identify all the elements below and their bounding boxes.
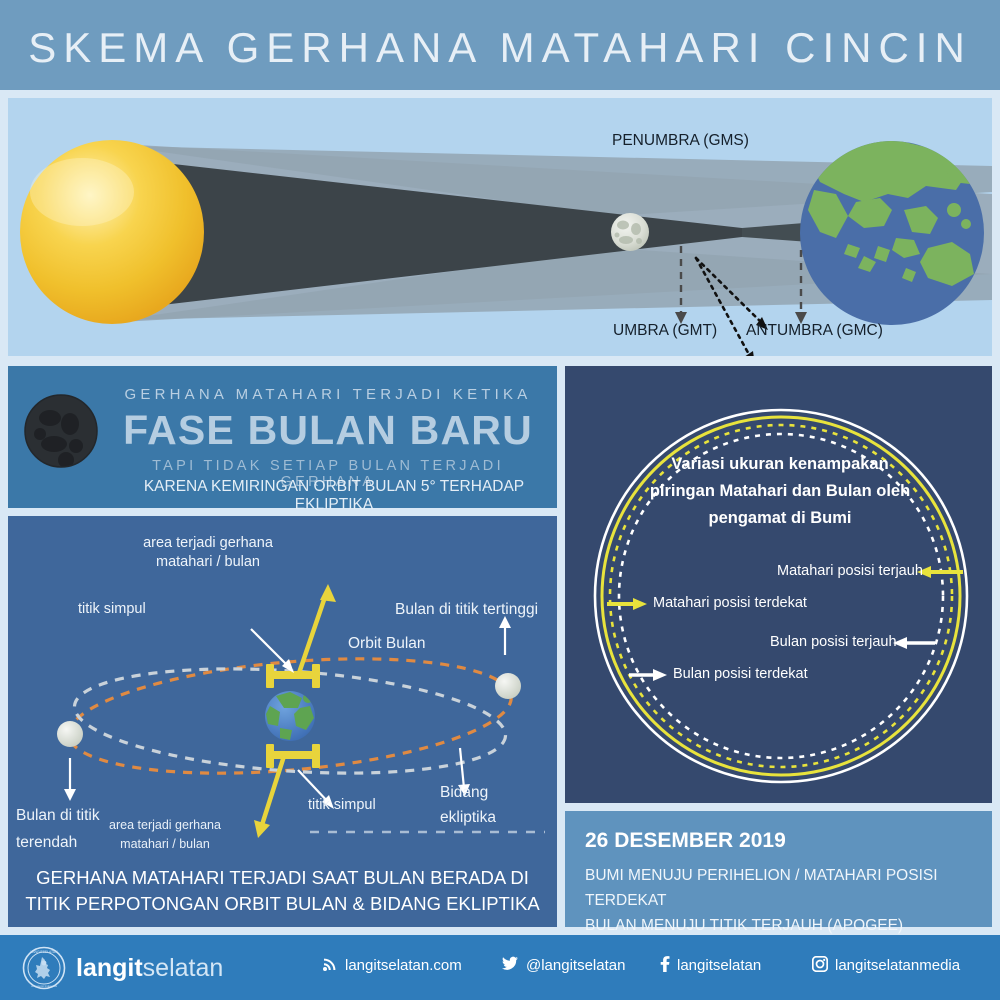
social-website-text: langitselatan.com: [345, 957, 462, 974]
page-header: SKEMA GERHANA MATAHARI CINCIN: [0, 0, 1000, 90]
brand-light: selatan: [143, 954, 224, 982]
social-website[interactable]: langitselatan.com: [322, 956, 462, 976]
twitter-icon: [502, 956, 519, 976]
social-twitter-text: @langitselatan: [526, 957, 625, 974]
social-facebook-text: langitselatan: [677, 957, 761, 974]
page-title: SKEMA GERHANA MATAHARI CINCIN: [0, 24, 1000, 72]
antumbra-label: ANTUMBRA (GMC): [746, 322, 883, 340]
eclipse-geometry-diagram: PENUMBRA (GMS) UMBRA (GMT) ANTUMBRA (GMC…: [8, 98, 992, 356]
moon-lowest-label: Bulan di titik terendah: [16, 802, 100, 856]
orbit-diagram-panel: area terjadi gerhana matahari / bulan ti…: [8, 516, 557, 927]
fase-line-1: GERHANA MATAHARI TERJADI KETIKA: [108, 386, 548, 403]
variasi-title: Variasi ukuran kenampakan piringan Matah…: [605, 451, 955, 532]
social-twitter[interactable]: @langitselatan: [502, 956, 625, 976]
sun-near-label: Matahari posisi terdekat: [653, 595, 807, 611]
rss-icon: [322, 956, 338, 976]
node-bottom-label: titik simpul: [308, 796, 376, 815]
variasi-ukuran-panel: Variasi ukuran kenampakan piringan Matah…: [565, 366, 992, 803]
moon-lowest-icon: [57, 721, 83, 747]
fase-line-4: KARENA KEMIRINGAN ORBIT BULAN 5° TERHADA…: [108, 478, 560, 514]
infographic-page: SKEMA GERHANA MATAHARI CINCIN: [0, 0, 1000, 1000]
date-detail-line2: BULAN MENUJU TITIK TERJAUH (APOGEE): [585, 917, 903, 934]
orbit-caption: GERHANA MATAHARI TERJADI SAAT BULAN BERA…: [8, 865, 557, 917]
eclipse-area-bottom-line1: area terjadi gerhana: [109, 818, 221, 832]
moon-highest-icon: [495, 673, 521, 699]
facebook-icon: [660, 956, 670, 976]
penumbra-arrowhead-2: [744, 351, 755, 356]
date-details: BUMI MENUJU PERIHELION / MATAHARI POSISI…: [585, 863, 992, 938]
social-instagram-text: langitselatanmedia: [835, 957, 960, 974]
orbit-bulan-label: Orbit Bulan: [348, 634, 426, 653]
langitselatan-seal-logo: LANGITSELATAN Astronomi Indonesia: [22, 946, 66, 990]
eclipse-area-arrowhead-top: [320, 584, 336, 602]
arrowhead-sun-near: [633, 598, 647, 610]
variasi-title-line2: piringan Matahari dan Bulan oleh: [650, 482, 910, 500]
arrowhead-moon-low: [64, 789, 76, 801]
instagram-icon: [812, 956, 828, 976]
arrowhead-moon-near: [653, 669, 667, 681]
date-panel: 26 DESEMBER 2019 BUMI MENUJU PERIHELION …: [565, 811, 992, 927]
fase-bulan-baru-panel: GERHANA MATAHARI TERJADI KETIKA FASE BUL…: [8, 366, 557, 508]
moon-highest-label: Bulan di titik tertinggi: [395, 600, 538, 619]
social-facebook[interactable]: langitselatan: [660, 956, 761, 976]
moon-near-label: Bulan posisi terdekat: [673, 666, 808, 682]
brand-bold: langit: [76, 954, 143, 982]
eclipse-area-arrow-top: [298, 594, 326, 676]
sun-far-label: Matahari posisi terjauh: [777, 563, 923, 579]
eclipse-area-top-line2: matahari / bulan: [156, 554, 260, 570]
ecliptic-line1: Bidang: [440, 784, 488, 801]
moon-body: [611, 213, 649, 251]
eclipse-area-top-label: area terjadi gerhana matahari / bulan: [98, 534, 318, 572]
sun-highlight: [30, 158, 134, 226]
orbit-caption-line2: TITIK PERPOTONGAN ORBIT BULAN & BIDANG E…: [25, 893, 539, 914]
umbra-label: UMBRA (GMT): [613, 322, 717, 340]
ecliptic-line2: ekliptika: [440, 809, 496, 826]
node-marker-bottom: [266, 744, 320, 768]
orbit-caption-line1: GERHANA MATAHARI TERJADI SAAT BULAN BERA…: [36, 867, 529, 888]
svg-text:LANGITSELATAN: LANGITSELATAN: [30, 950, 58, 954]
social-instagram[interactable]: langitselatanmedia: [812, 956, 960, 976]
date-title: 26 DESEMBER 2019: [585, 829, 786, 853]
variasi-title-line1: Variasi ukuran kenampakan: [671, 455, 888, 473]
penumbra-label: PENUMBRA (GMS): [612, 132, 749, 150]
svg-text:Astronomi Indonesia: Astronomi Indonesia: [31, 984, 57, 988]
earth-center-icon: [265, 691, 315, 741]
ecliptic-plane-label: Bidang ekliptika: [440, 780, 496, 830]
footer-bar: LANGITSELATAN Astronomi Indonesia langit…: [0, 935, 1000, 1000]
node-top-label: titik simpul: [78, 600, 146, 619]
fase-line-2: FASE BULAN BARU: [108, 406, 548, 454]
moon-lowest-line2: terendah: [16, 834, 77, 851]
new-moon-icon: [22, 392, 100, 470]
eclipse-area-top-line1: area terjadi gerhana: [143, 535, 273, 551]
node-marker-top: [266, 664, 320, 688]
variasi-title-line3: pengamat di Bumi: [708, 509, 851, 527]
brand-wordmark: langitselatan: [76, 954, 223, 983]
date-detail-line1: BUMI MENUJU PERIHELION / MATAHARI POSISI…: [585, 867, 938, 909]
moon-lowest-line1: Bulan di titik: [16, 807, 100, 824]
eclipse-area-bottom-line2: matahari / bulan: [120, 837, 210, 851]
moon-far-label: Bulan posisi terjauh: [770, 634, 897, 650]
